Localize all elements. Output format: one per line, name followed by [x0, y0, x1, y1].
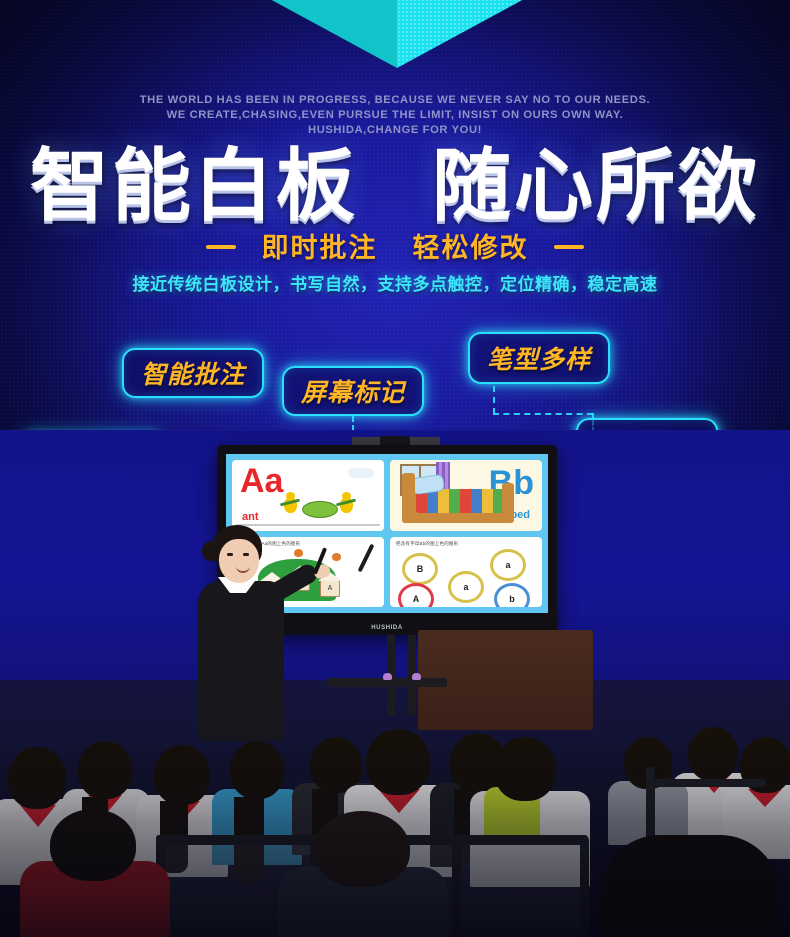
feature-label: 屏幕标记 — [301, 373, 405, 409]
hut-letter: A — [328, 585, 333, 592]
barrier-post — [580, 837, 589, 937]
subtitle-right-text: 轻松修改 — [413, 233, 529, 263]
ring-item: A — [398, 583, 434, 608]
presenter-face — [219, 539, 259, 583]
student-head — [314, 811, 410, 887]
ring-item: a — [448, 571, 484, 603]
worksheet-title: 把含有字母Bb的图上色的图形 — [396, 541, 458, 547]
student-head — [494, 737, 556, 801]
barrier-post — [452, 837, 461, 937]
subtitle: 即时批注 轻松修改 — [0, 232, 790, 264]
ring-item: a — [490, 549, 526, 581]
slide-letter: Aa — [240, 464, 283, 498]
slide-worksheet-right: 把含有字母Bb的图上色的图形 B a a A b — [390, 537, 542, 608]
description-text: 接近传统白板设计，书写自然，支持多点触控，定位精确，稳定高速 — [0, 274, 790, 296]
connector-pen-horizontal — [493, 413, 593, 415]
ant-icon — [340, 497, 353, 513]
feature-chip-smart-annotation[interactable]: 智能批注 — [122, 348, 264, 398]
tagline-line-1: THE WORLD HAS BEEN IN PROGRESS, BECAUSE … — [0, 93, 790, 108]
student-head — [366, 729, 430, 795]
barrier-rail-right — [648, 779, 766, 787]
student-head — [600, 835, 780, 937]
tagline-line-2: WE CREATE,CHASING,EVEN PURSUE THE LIMIT,… — [0, 108, 790, 123]
chevron-right-half — [397, 0, 526, 68]
bed-illustration — [402, 471, 514, 523]
page-title: 智能白板 随心所欲 — [0, 145, 790, 227]
ring-item: B — [402, 553, 438, 585]
subtitle-left-text: 即时批注 — [261, 233, 377, 263]
subtitle-dash-left — [206, 245, 236, 249]
ant-icon — [284, 497, 297, 513]
acorn-icon — [332, 553, 341, 561]
presenter-hair-bun — [202, 541, 220, 561]
bed-footboard — [502, 483, 514, 523]
connector-pen-vertical — [493, 386, 495, 414]
leaf-shape — [302, 501, 338, 518]
list-item — [20, 811, 170, 937]
list-item — [600, 817, 780, 937]
feature-label: 笔型多样 — [487, 340, 591, 376]
student-head — [230, 741, 284, 799]
feature-chip-screen-marker[interactable]: 屏幕标记 — [282, 366, 424, 416]
tagline-line-3: HUSHIDA,CHANGE FOR YOU! — [0, 123, 790, 138]
ant-illustration — [280, 487, 360, 521]
hut-shape: A — [320, 580, 340, 597]
student-head — [8, 747, 66, 809]
english-tagline: THE WORLD HAS BEEN IN PROGRESS, BECAUSE … — [0, 93, 790, 138]
slide-aa: Aa ant — [232, 460, 384, 531]
subtitle-dash-right — [554, 245, 584, 249]
headline-part-1: 智能白板 — [30, 141, 358, 230]
student-head — [154, 745, 210, 805]
chevron-down-banner-icon — [268, 0, 526, 68]
student-audience — [0, 637, 790, 937]
headline-part-2: 随心所欲 — [432, 141, 760, 230]
student-head — [50, 809, 136, 881]
slide-word: ant — [242, 511, 259, 523]
poster-root: THE WORLD HAS BEEN IN PROGRESS, BECAUSE … — [0, 0, 790, 937]
classroom-photo: Aa ant Bb bed — [0, 430, 790, 937]
presenter-eye — [227, 553, 233, 556]
presenter-eye — [243, 553, 249, 556]
bed-headboard — [402, 473, 415, 523]
list-item — [278, 821, 448, 937]
chevron-left-half — [268, 0, 397, 68]
student-head — [78, 741, 132, 799]
stylus-pointer-icon — [358, 543, 375, 572]
ring-item: b — [494, 583, 530, 608]
slide-bb: Bb bed — [390, 460, 542, 531]
chevron-dot-texture — [397, 0, 526, 68]
display-brand-logo: HUSHIDA — [371, 625, 403, 631]
feature-chip-pen-variety[interactable]: 笔型多样 — [468, 332, 610, 384]
cloud-shape — [348, 468, 374, 478]
feature-label: 智能批注 — [141, 355, 245, 391]
